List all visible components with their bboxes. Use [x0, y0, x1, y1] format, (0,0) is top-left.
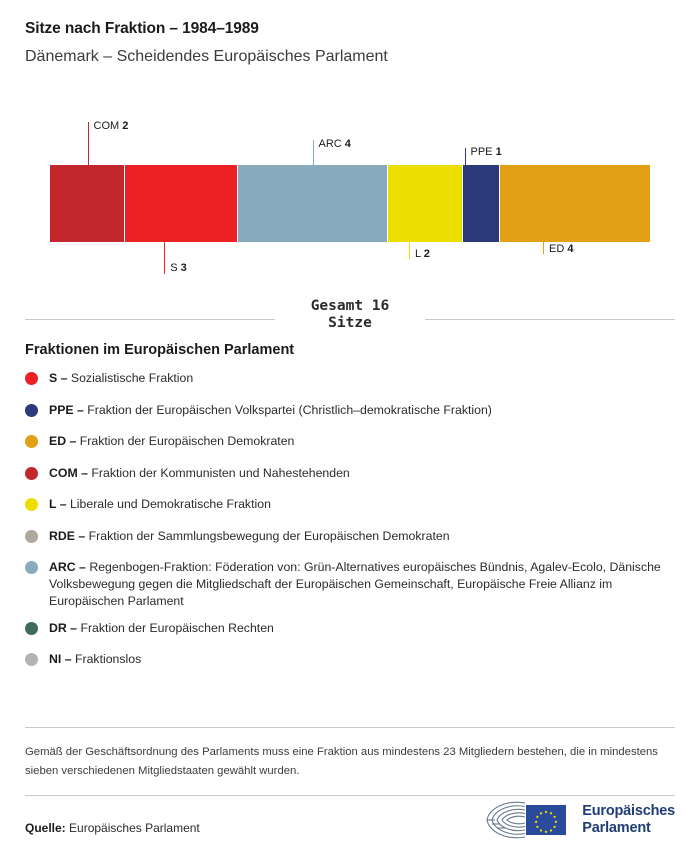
bar-segment-arc[interactable] [238, 165, 388, 242]
legend-item-abbr: ED – [49, 434, 76, 448]
source-line: Quelle: Europäisches Parlament [25, 821, 200, 835]
legend-item[interactable]: COM – Fraktion der Kommunisten und Nahes… [25, 465, 665, 487]
callout-label-ed: ED 4 [549, 243, 573, 255]
legend-item-text: ED – Fraktion der Europäischen Demokrate… [49, 433, 294, 450]
legend-color-dot [25, 435, 38, 448]
callout-abbr: ED [549, 243, 564, 255]
callout-tick-com [88, 122, 89, 165]
callout-label-arc: ARC 4 [319, 138, 351, 150]
source-label: Quelle: [25, 821, 66, 835]
callout-label-ppe: PPE 1 [471, 146, 502, 158]
callout-value: 2 [424, 248, 430, 260]
callout-tick-arc [313, 140, 314, 165]
european-parliament-logo: Europäisches Parlament [481, 798, 675, 842]
legend-item-text: PPE – Fraktion der Europäischen Volkspar… [49, 402, 492, 419]
total-seats-unit: Sitze [328, 315, 372, 331]
legend-item[interactable]: NI – Fraktionslos [25, 651, 665, 673]
callout-label-com: COM 2 [94, 120, 129, 132]
legend-color-dot [25, 622, 38, 635]
legend-color-dot [25, 498, 38, 511]
ep-logo-line1: Europäisches [582, 803, 675, 820]
bar-segment-com[interactable] [50, 165, 125, 242]
legend-color-dot [25, 653, 38, 666]
legend-color-dot [25, 404, 38, 417]
infographic-page: Sitze nach Fraktion – 1984–1989 Dänemark… [0, 0, 700, 854]
legend-item-abbr: NI – [49, 652, 72, 666]
callout-tick-l [409, 242, 410, 259]
legend-item-desc: Liberale und Demokratische Fraktion [67, 497, 271, 511]
legend-item-abbr: RDE – [49, 529, 85, 543]
legend-item-abbr: COM – [49, 466, 88, 480]
legend-item-desc: Regenbogen-Fraktion: Föderation von: Grü… [49, 560, 661, 608]
callout-label-l: L 2 [415, 248, 430, 260]
legend-item[interactable]: L – Liberale und Demokratische Fraktion [25, 496, 665, 518]
total-seats-block: Gesamt 16 Sitze [0, 298, 700, 332]
legend-item-desc: Fraktion der Kommunisten und Nahestehend… [88, 466, 350, 480]
legend-item[interactable]: RDE – Fraktion der Sammlungsbewegung der… [25, 528, 665, 550]
legend-item-text: NI – Fraktionslos [49, 651, 141, 668]
legend-item-desc: Fraktion der Sammlungsbewegung der Europ… [85, 529, 449, 543]
callout-abbr: PPE [471, 146, 493, 158]
legend-color-dot [25, 372, 38, 385]
callout-tick-s [164, 242, 165, 274]
callout-tick-ppe [465, 148, 466, 165]
legend-item-desc: Sozialistische Fraktion [67, 371, 193, 385]
ep-hemicycle-icon [481, 799, 573, 841]
source-value: Europäisches Parlament [69, 821, 200, 835]
callout-value: 3 [181, 262, 187, 274]
legend-item-abbr: L – [49, 497, 67, 511]
legend-item-text: L – Liberale und Demokratische Fraktion [49, 496, 271, 513]
callout-tick-ed [543, 242, 544, 254]
legend-item-abbr: S – [49, 371, 67, 385]
legend-item-desc: Fraktion der Europäischen Volkspartei (C… [84, 403, 492, 417]
legend-item[interactable]: ARC – Regenbogen-Fraktion: Föderation vo… [25, 559, 665, 610]
footnote-text: Gemäß der Geschäftsordnung des Parlament… [25, 743, 675, 781]
callout-value: 1 [496, 146, 502, 158]
page-title: Sitze nach Fraktion – 1984–1989 [25, 20, 259, 38]
bar-segment-ppe[interactable] [463, 165, 501, 242]
legend-list: S – Sozialistische FraktionPPE – Fraktio… [25, 370, 665, 683]
legend-item[interactable]: DR – Fraktion der Europäischen Rechten [25, 620, 665, 642]
page-subtitle: Dänemark – Scheidendes Europäisches Parl… [25, 48, 388, 66]
legend-item-desc: Fraktionslos [72, 652, 142, 666]
ep-logo-text: Europäisches Parlament [582, 803, 675, 837]
total-rule-left [25, 319, 275, 320]
footnote-rule-bottom [25, 795, 675, 796]
footnote-rule-top [25, 727, 675, 728]
legend-item-abbr: DR – [49, 621, 77, 635]
callout-label-s: S 3 [170, 262, 187, 274]
legend-item-desc: Fraktion der Europäischen Demokraten [76, 434, 294, 448]
callout-abbr: COM [94, 120, 120, 132]
legend-item[interactable]: PPE – Fraktion der Europäischen Volkspar… [25, 402, 665, 424]
callout-abbr: ARC [319, 138, 342, 150]
legend-item-text: RDE – Fraktion der Sammlungsbewegung der… [49, 528, 450, 545]
legend-color-dot [25, 467, 38, 480]
legend-item-abbr: PPE – [49, 403, 84, 417]
ep-logo-line2: Parlament [582, 820, 675, 837]
legend-color-dot [25, 530, 38, 543]
callout-abbr: S [170, 262, 177, 274]
legend-item-text: ARC – Regenbogen-Fraktion: Föderation vo… [49, 559, 665, 610]
total-seats-text: Gesamt 16 Sitze [297, 298, 404, 332]
callout-value: 2 [122, 120, 128, 132]
callout-value: 4 [567, 243, 573, 255]
legend-item-abbr: ARC – [49, 560, 86, 574]
legend-item-text: COM – Fraktion der Kommunisten und Nahes… [49, 465, 350, 482]
total-seats-value: Gesamt 16 [311, 298, 390, 314]
callout-value: 4 [345, 138, 351, 150]
legend-item-desc: Fraktion der Europäischen Rechten [77, 621, 274, 635]
bar-segment-s[interactable] [125, 165, 238, 242]
stacked-bar [50, 165, 650, 242]
legend-color-dot [25, 561, 38, 574]
legend-item[interactable]: S – Sozialistische Fraktion [25, 370, 665, 392]
legend-item-text: DR – Fraktion der Europäischen Rechten [49, 620, 274, 637]
legend-item[interactable]: ED – Fraktion der Europäischen Demokrate… [25, 433, 665, 455]
total-rule-right [425, 319, 675, 320]
legend-title: Fraktionen im Europäischen Parlament [25, 342, 294, 358]
bar-segment-l[interactable] [388, 165, 463, 242]
seats-bar-chart: COM 2S 3ARC 4L 2PPE 1ED 4 [0, 110, 700, 290]
legend-item-text: S – Sozialistische Fraktion [49, 370, 193, 387]
bar-segment-ed[interactable] [500, 165, 650, 242]
callout-abbr: L [415, 248, 421, 260]
